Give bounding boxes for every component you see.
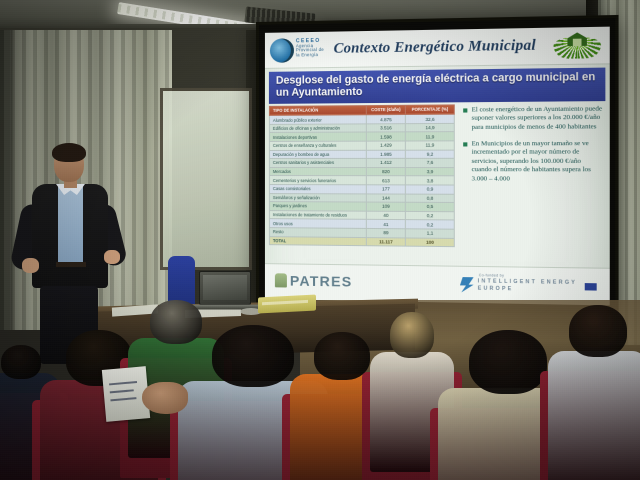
cell-pct: 3,8 <box>406 176 454 185</box>
table-row: Mercados8203,9 <box>269 167 454 176</box>
yellow-box-on-desk <box>258 294 316 313</box>
presenter <box>14 146 126 361</box>
cell-cost: 109 <box>366 202 406 211</box>
cell-label: Centros sanitarios y asistenciales <box>269 159 366 168</box>
cell-cost: 177 <box>366 185 406 194</box>
patres-glyph-icon <box>275 273 287 287</box>
attendee-head <box>212 325 294 387</box>
cell-cost: 1.985 <box>366 150 406 159</box>
presenter-belt <box>56 262 86 267</box>
cell-cost: 40 <box>366 211 406 220</box>
cell-pct: 11,9 <box>406 141 454 150</box>
slide-bullets: El coste energético de un Ayuntamiento p… <box>459 103 605 249</box>
presenter-hair <box>52 143 86 162</box>
presenter-hand-left <box>22 258 39 273</box>
cell-pct: 9,2 <box>406 150 454 159</box>
eu-flag-icon <box>585 283 597 291</box>
cell-pct: 7,6 <box>406 159 454 168</box>
cell-cost: 41 <box>366 220 406 229</box>
th-porcentaje: PORCENTAJE (%) <box>406 105 454 115</box>
table-row: Centros sanitarios y asistenciales1.4127… <box>269 159 454 168</box>
attendee-head <box>569 305 627 357</box>
cell-cost: 3.516 <box>366 123 406 132</box>
cell-cost: 1.429 <box>366 141 406 150</box>
attendee-head <box>1 345 41 379</box>
attendee-torso <box>548 351 640 480</box>
slide-title-band: Desglose del gasto de energía eléctrica … <box>269 68 605 104</box>
attendee-head <box>314 332 370 380</box>
projection-screen: CEEEO Agencia Provincial de la Energía C… <box>256 15 618 315</box>
intelligent-energy-europe-logo: Co-funded by INTELLIGENT ENERGY EUROPE <box>460 273 597 295</box>
bullet-item: El coste energético de un Ayuntamiento p… <box>463 105 602 133</box>
total-label: TOTAL <box>269 236 366 246</box>
cell-label: Casas consistoriales <box>269 185 366 194</box>
presenter-shirt <box>58 186 83 264</box>
table-row: Depuración y bombeo de agua1.9859,2 <box>269 150 454 159</box>
laptop-screen <box>203 275 247 300</box>
table-total-row: TOTAL11.117100 <box>269 236 454 247</box>
presentation-photo: CEEEO Agencia Provincial de la Energía C… <box>0 0 640 480</box>
cell-cost: 144 <box>366 193 406 202</box>
cell-cost: 4.875 <box>366 115 406 124</box>
slide-body: TIPO DE INSTALACIÓN COSTE (€/año) PORCEN… <box>265 103 610 249</box>
total-pct: 100 <box>406 237 454 246</box>
cell-pct: 0,2 <box>406 220 454 229</box>
patres-label: PATRES <box>290 272 353 289</box>
cell-pct: 3,9 <box>406 167 454 176</box>
table-row: Centros de enseñanza y culturales1.42911… <box>269 141 454 150</box>
cell-label: Depuración y bombeo de agua <box>269 150 366 159</box>
bullet-item: En Municipios de un mayor tamaño se ve i… <box>463 139 602 184</box>
slide: CEEEO Agencia Provincial de la Energía C… <box>265 27 610 306</box>
total-cost: 11.117 <box>366 237 406 246</box>
cell-pct: 0,2 <box>406 211 454 220</box>
whiteboard <box>160 88 252 270</box>
cell-cost: 1.598 <box>366 132 406 141</box>
cell-label: Edificios de oficinas y administración <box>269 124 366 133</box>
cell-cost: 89 <box>366 228 406 237</box>
attendee-head <box>390 312 434 358</box>
green-sunburst-house-logo-icon <box>551 29 603 61</box>
cell-label: Cementerios y servicios funerarios <box>269 176 366 185</box>
attendee-hand <box>142 382 188 414</box>
cost-breakdown-table: TIPO DE INSTALACIÓN COSTE (€/año) PORCEN… <box>269 104 455 247</box>
cell-cost: 820 <box>366 167 406 176</box>
th-coste: COSTE (€/año) <box>366 105 406 115</box>
slide-header: CEEEO Agencia Provincial de la Energía C… <box>265 27 610 69</box>
attendee-head <box>469 330 547 394</box>
cell-label: Instalaciones deportivas <box>269 132 366 141</box>
attendee-striped-shirt <box>548 305 640 450</box>
cell-cost: 613 <box>366 176 406 185</box>
cell-label: Centros de enseñanza y culturales <box>269 141 366 150</box>
cell-pct: 0,8 <box>406 194 454 203</box>
patres-logo: PATRES <box>275 272 353 289</box>
iee-mark-icon <box>460 277 474 293</box>
cell-pct: 11,9 <box>406 132 454 141</box>
cell-cost: 1.412 <box>366 159 406 168</box>
cell-pct: 0,5 <box>406 202 454 211</box>
cell-label: Mercados <box>269 167 366 176</box>
cell-pct: 14,9 <box>406 123 454 132</box>
presenter-hand-right <box>104 250 120 264</box>
cost-breakdown-table-wrap: TIPO DE INSTALACIÓN COSTE (€/año) PORCEN… <box>269 104 455 247</box>
cell-pct: 32,6 <box>406 114 454 123</box>
cell-pct: 0,9 <box>406 185 454 194</box>
